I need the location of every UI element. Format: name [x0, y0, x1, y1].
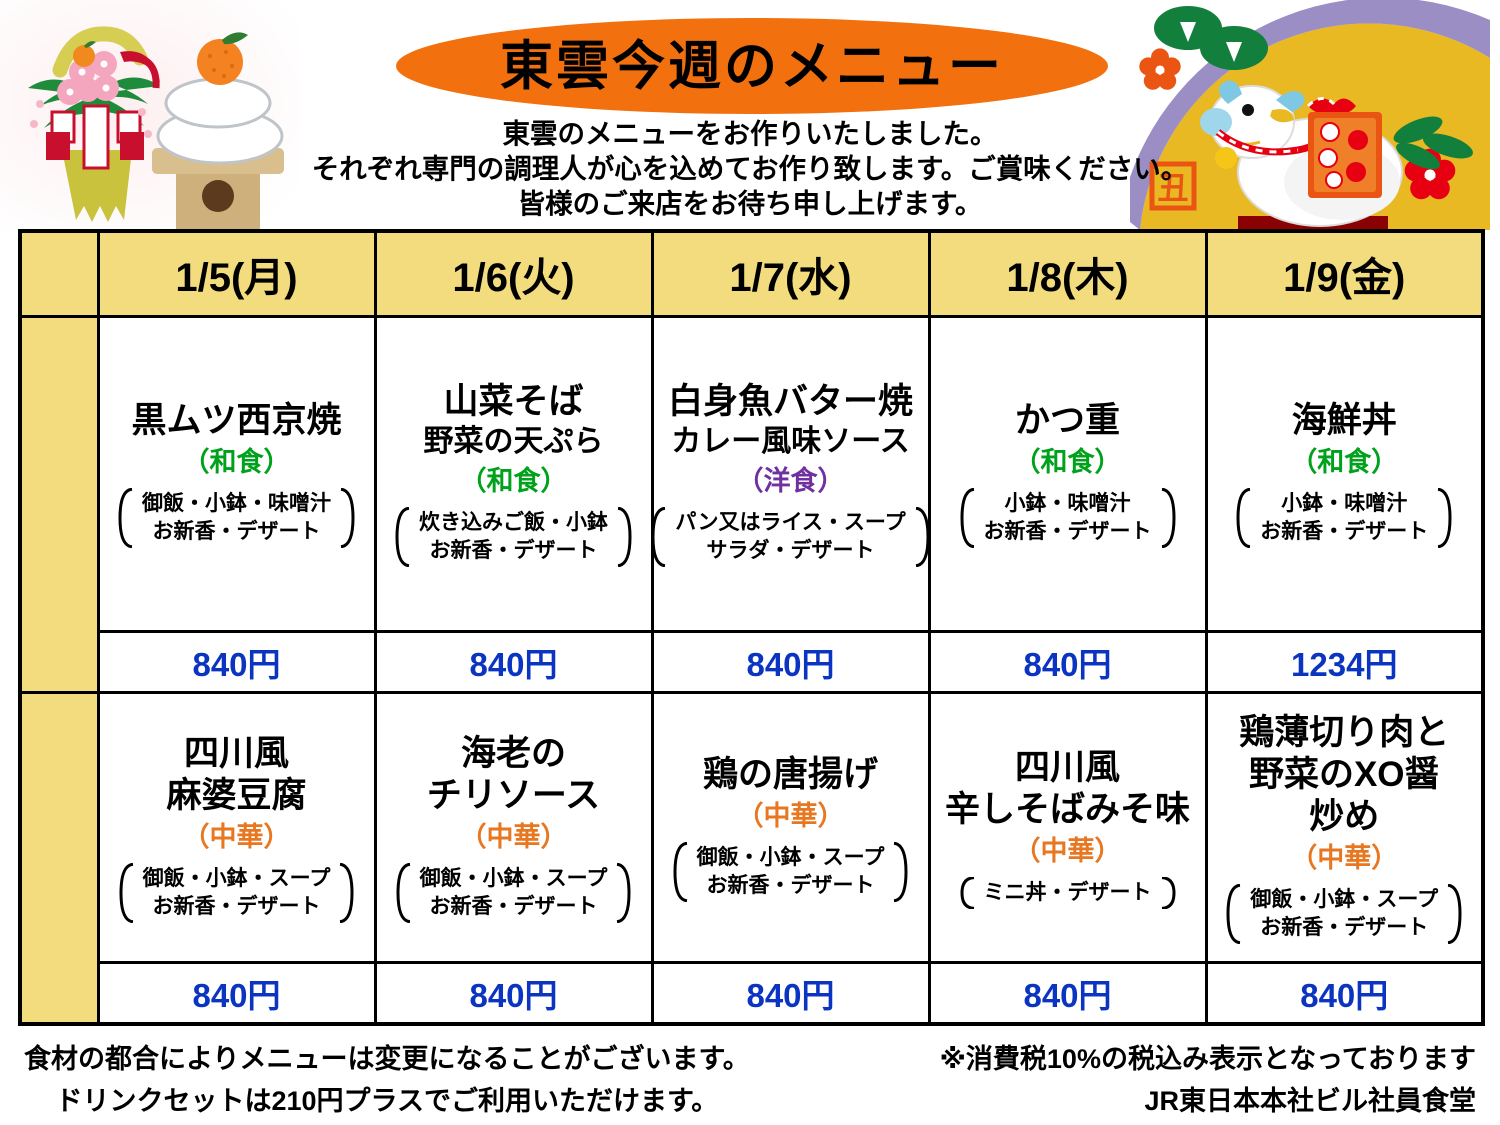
dish-cell-r1-c2[interactable]: 山菜そば野菜の天ぷら（和食）炊き込みご飯・小鉢お新香・デザート — [375, 317, 652, 632]
left-bracket-icon — [394, 863, 414, 923]
dish-cell-r2-c4[interactable]: 四川風辛しそばみそ味（中華）ミニ丼・デザート — [929, 693, 1206, 963]
table-corner-cell — [20, 231, 98, 317]
price-cell-r1-c3: 840円 — [652, 632, 929, 693]
price-cell-r1-c2: 840円 — [375, 632, 652, 693]
page-title: 東雲今週のメニュー — [500, 40, 1004, 93]
dish-name-line: 四川風 — [184, 733, 289, 775]
day-header-1: 1/5(月) — [98, 231, 375, 317]
side-dishes-group: 小鉢・味噌汁お新香・デザート — [958, 488, 1178, 548]
right-bracket-icon — [336, 863, 356, 923]
side-dishes-group: 小鉢・味噌汁お新香・デザート — [1234, 488, 1454, 548]
side-dish-line: お新香・デザート — [1250, 914, 1438, 942]
dish-genre-label: （和食） — [1290, 444, 1398, 480]
weekly-menu-table: 1/5(月)1/6(火)1/7(水)1/8(木)1/9(金)黒ムツ西京焼（和食）… — [18, 229, 1485, 1026]
footer-right-line-1: ※消費税10%の税込み表示となっております — [940, 1038, 1476, 1080]
price-cell-r2-c4: 840円 — [929, 963, 1206, 1025]
page-subtitle: 東雲のメニューをお作りいたしました。 それぞれ専門の調理人が心を込めてお作り致し… — [0, 116, 1500, 221]
right-bracket-icon — [1434, 488, 1454, 548]
dish-genre-label: （和食） — [1014, 444, 1122, 480]
price-cell-r1-c4: 840円 — [929, 632, 1206, 693]
page-footer: 食材の都合によりメニューは変更になることがございます。 ドリンクセットは210円… — [0, 1038, 1500, 1125]
side-dish-line: お新香・デザート — [143, 893, 331, 921]
dish-genre-label: （中華） — [737, 798, 845, 834]
side-dish-line: お新香・デザート — [1260, 518, 1428, 546]
dish-subtitle-line: 野菜の天ぷら — [424, 423, 604, 461]
left-bracket-icon — [958, 877, 978, 909]
right-bracket-icon — [1444, 884, 1464, 944]
side-dish-line: 小鉢・味噌汁 — [984, 490, 1152, 518]
left-bracket-icon — [671, 842, 691, 902]
dish-cell-r1-c4[interactable]: かつ重（和食）小鉢・味噌汁お新香・デザート — [929, 317, 1206, 632]
dish-cell-r2-c3[interactable]: 鶏の唐揚げ（中華）御飯・小鉢・スープお新香・デザート — [652, 693, 929, 963]
dish-name-line: 山菜そば — [443, 381, 583, 423]
row-label-2 — [20, 693, 98, 1025]
side-dishes-group: 御飯・小鉢・スープお新香・デザート — [394, 863, 634, 923]
day-header-4: 1/8(木) — [929, 231, 1206, 317]
side-dish-line: 小鉢・味噌汁 — [1260, 490, 1428, 518]
dish-genre-label: （中華） — [1290, 840, 1398, 876]
side-dishes-group: パン又はライス・スープサラダ・デザート — [649, 507, 931, 567]
dish-cell-r1-c1[interactable]: 黒ムツ西京焼（和食）御飯・小鉢・味噌汁お新香・デザート — [98, 317, 375, 632]
right-bracket-icon — [1158, 488, 1178, 548]
price-cell-r1-c1: 840円 — [98, 632, 375, 693]
side-dish-line: 御飯・小鉢・スープ — [1250, 886, 1438, 914]
side-dish-line: 御飯・小鉢・スープ — [420, 865, 608, 893]
side-dish-line: お新香・デザート — [142, 518, 331, 546]
price-cell-r2-c2: 840円 — [375, 963, 652, 1025]
left-bracket-icon — [1234, 488, 1254, 548]
dish-name-line: 海鮮丼 — [1292, 400, 1397, 442]
footer-right-line-2: JR東日本本社ビル社員食堂 — [940, 1080, 1476, 1122]
dish-cell-r2-c1[interactable]: 四川風麻婆豆腐（中華）御飯・小鉢・スープお新香・デザート — [98, 693, 375, 963]
right-bracket-icon — [613, 863, 633, 923]
left-bracket-icon — [393, 507, 413, 567]
dish-cell-r2-c5[interactable]: 鶏薄切り肉と野菜のXO醤炒め（中華）御飯・小鉢・スープお新香・デザート — [1206, 693, 1483, 963]
subtitle-line-2: それぞれ専門の調理人が心を込めてお作り致します。ご賞味ください。 — [0, 151, 1500, 186]
day-header-5: 1/9(金) — [1206, 231, 1483, 317]
footer-note-left: 食材の都合によりメニューは変更になることがございます。 ドリンクセットは210円… — [24, 1038, 750, 1122]
side-dish-line: ミニ丼・デザート — [984, 879, 1152, 907]
dish-name-line: かつ重 — [1015, 400, 1120, 442]
day-header-2: 1/6(火) — [375, 231, 652, 317]
side-dish-line: お新香・デザート — [984, 518, 1152, 546]
side-dish-line: 御飯・小鉢・スープ — [697, 844, 885, 872]
price-cell-r2-c5: 840円 — [1206, 963, 1483, 1025]
dish-name-line: 炒め — [1309, 796, 1379, 838]
left-bracket-icon — [1224, 884, 1244, 944]
dish-name-line: チリソース — [427, 775, 600, 817]
footer-left-line-1: 食材の都合によりメニューは変更になることがございます。 — [24, 1038, 750, 1080]
side-dish-line: お新香・デザート — [419, 537, 608, 565]
side-dish-line: サラダ・デザート — [675, 537, 905, 565]
price-cell-r1-c5: 1234円 — [1206, 632, 1483, 693]
side-dishes-group: 御飯・小鉢・スープお新香・デザート — [671, 842, 911, 902]
right-bracket-icon — [1158, 877, 1178, 909]
side-dishes-group: 御飯・小鉢・スープお新香・デザート — [117, 863, 357, 923]
side-dish-line: 炊き込みご飯・小鉢 — [419, 509, 608, 537]
dish-name-line: 鶏薄切り肉と — [1239, 712, 1449, 754]
dish-name-line: 海老の — [461, 733, 566, 775]
price-row-2: 840円840円840円840円840円 — [20, 963, 1483, 1025]
side-dish-line: 御飯・小鉢・味噌汁 — [142, 490, 331, 518]
subtitle-line-3: 皆様のご来店をお待ち申し上げます。 — [0, 186, 1500, 221]
dish-genre-label: （洋食） — [737, 463, 845, 499]
left-bracket-icon — [117, 863, 137, 923]
row-label-1 — [20, 317, 98, 693]
right-bracket-icon — [890, 842, 910, 902]
dish-name-line: 黒ムツ西京焼 — [131, 400, 341, 442]
side-dishes-group: 御飯・小鉢・スープお新香・デザート — [1224, 884, 1464, 944]
dish-name-line: 白身魚バター焼 — [668, 381, 913, 423]
subtitle-line-1: 東雲のメニューをお作りいたしました。 — [0, 116, 1500, 151]
dish-name-line: 辛しそばみそ味 — [945, 789, 1190, 831]
day-header-3: 1/7(水) — [652, 231, 929, 317]
price-cell-r2-c1: 840円 — [98, 963, 375, 1025]
dish-genre-label: （中華） — [460, 819, 568, 855]
right-bracket-icon — [337, 488, 357, 548]
price-cell-r2-c3: 840円 — [652, 963, 929, 1025]
dish-genre-label: （和食） — [460, 463, 568, 499]
side-dish-line: 御飯・小鉢・スープ — [143, 865, 331, 893]
dish-cell-r1-c3[interactable]: 白身魚バター焼カレー風味ソース（洋食）パン又はライス・スープサラダ・デザート — [652, 317, 929, 632]
side-dishes-group: 御飯・小鉢・味噌汁お新香・デザート — [116, 488, 357, 548]
footer-left-line-2: ドリンクセットは210円プラスでご利用いただけます。 — [24, 1080, 750, 1122]
menu-row-2: 四川風麻婆豆腐（中華）御飯・小鉢・スープお新香・デザート海老のチリソース（中華）… — [20, 693, 1483, 963]
dish-name-line: 麻婆豆腐 — [166, 775, 306, 817]
dish-genre-label: （和食） — [183, 444, 291, 480]
dish-cell-r1-c5[interactable]: 海鮮丼（和食）小鉢・味噌汁お新香・デザート — [1206, 317, 1483, 632]
left-bracket-icon — [116, 488, 136, 548]
price-row-1: 840円840円840円840円1234円 — [20, 632, 1483, 693]
left-bracket-icon — [649, 507, 669, 567]
dish-name-line: 野菜のXO醤 — [1249, 754, 1440, 796]
side-dishes-group: 炊き込みご飯・小鉢お新香・デザート — [393, 507, 634, 567]
right-bracket-icon — [614, 507, 634, 567]
dish-genre-label: （中華） — [1014, 833, 1122, 869]
side-dishes-group: ミニ丼・デザート — [958, 877, 1178, 909]
table-header-row: 1/5(月)1/6(火)1/7(水)1/8(木)1/9(金) — [20, 231, 1483, 317]
side-dish-line: パン又はライス・スープ — [675, 509, 905, 537]
side-dish-line: お新香・デザート — [697, 872, 885, 900]
menu-row-1: 黒ムツ西京焼（和食）御飯・小鉢・味噌汁お新香・デザート山菜そば野菜の天ぷら（和食… — [20, 317, 1483, 632]
dish-name-line: 鶏の唐揚げ — [703, 754, 878, 796]
dish-subtitle-line: カレー風味ソース — [671, 423, 910, 461]
side-dish-line: お新香・デザート — [420, 893, 608, 921]
right-bracket-icon — [912, 507, 932, 567]
left-bracket-icon — [958, 488, 978, 548]
dish-cell-r2-c2[interactable]: 海老のチリソース（中華）御飯・小鉢・スープお新香・デザート — [375, 693, 652, 963]
dish-name-line: 四川風 — [1015, 747, 1120, 789]
title-banner: 東雲今週のメニュー — [396, 18, 1108, 114]
dish-genre-label: （中華） — [183, 819, 291, 855]
footer-note-right: ※消費税10%の税込み表示となっております JR東日本本社ビル社員食堂 — [940, 1038, 1476, 1122]
page-header: 東雲今週のメニュー 東雲のメニューをお作りいたしました。 それぞれ専門の調理人が… — [0, 0, 1500, 228]
